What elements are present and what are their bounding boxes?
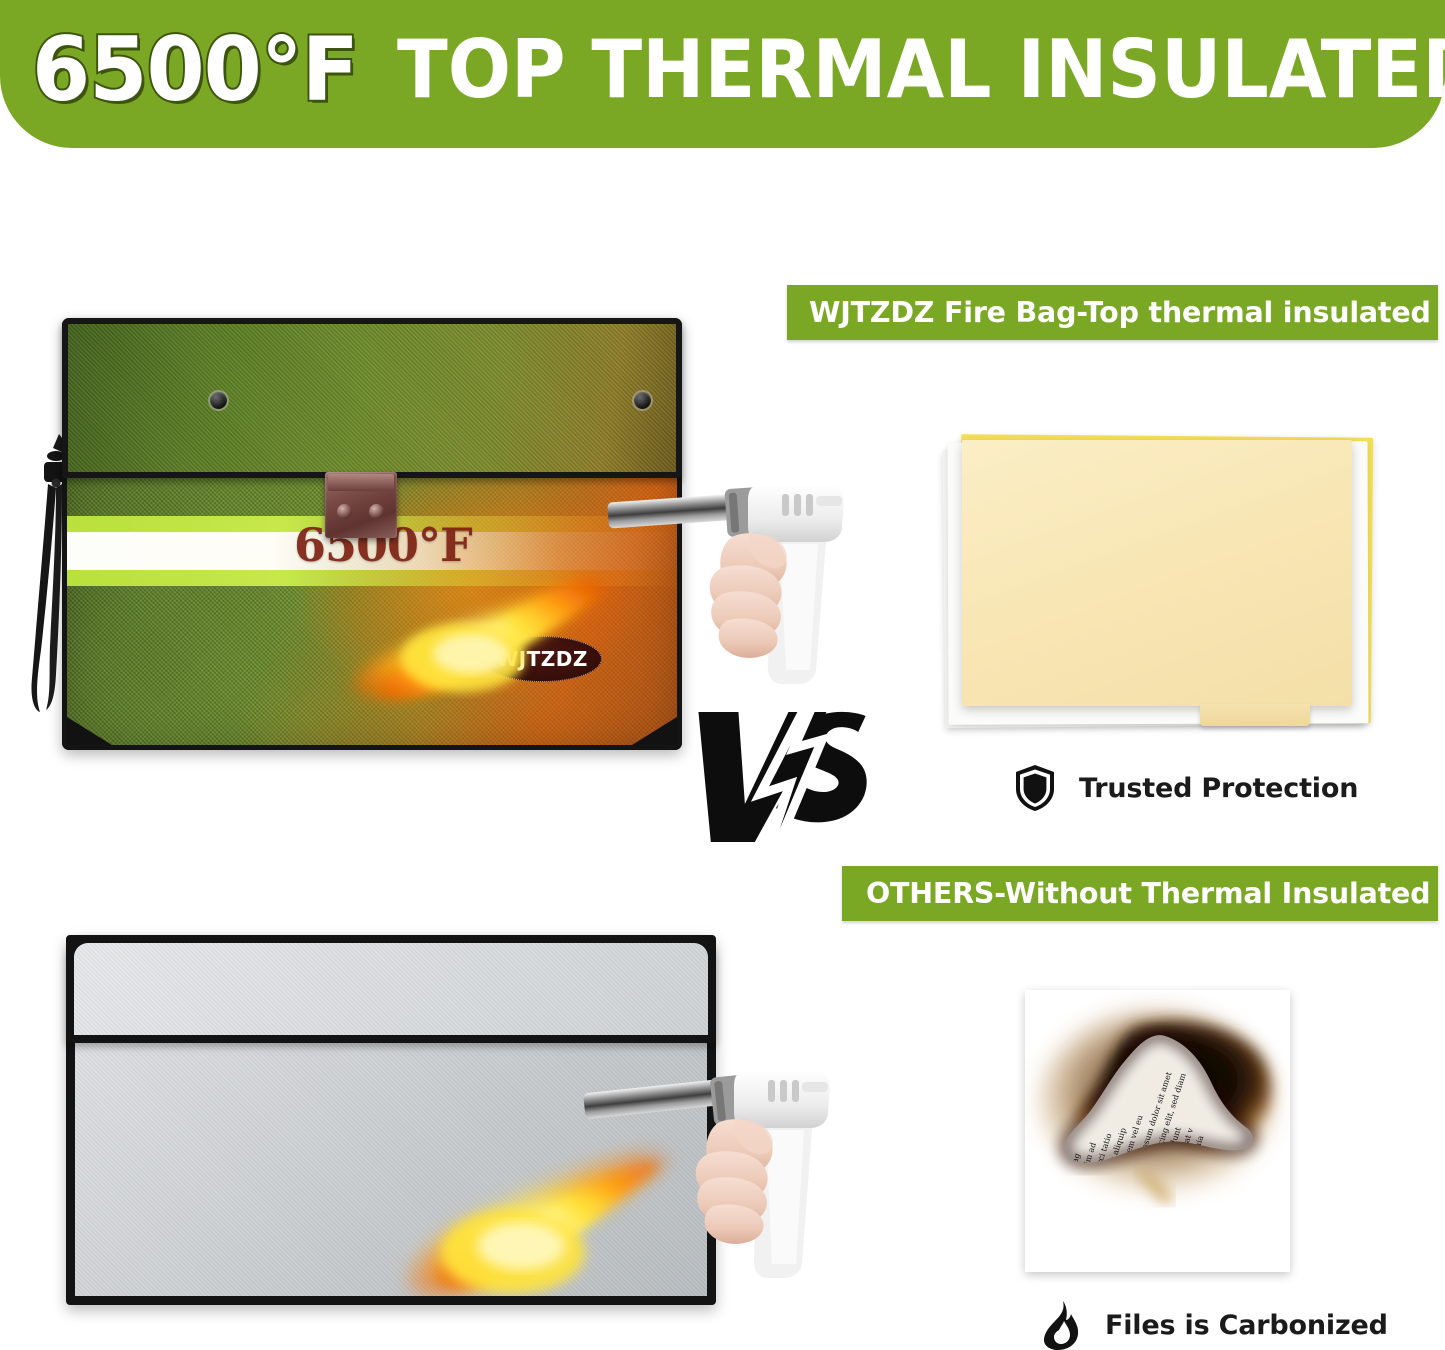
clasp-stud-left — [337, 504, 352, 519]
bag-stripe-lower — [62, 570, 682, 586]
banner-bottom-label: OTHERS-Without Thermal Insulated — [866, 877, 1430, 910]
bag-corner-right — [624, 706, 682, 750]
clasp-top-plate — [328, 474, 394, 491]
burned-document-photo: mag enim ad exerci tatio nisl ut aliquip… — [1025, 990, 1290, 1272]
banner-top-product: WJTZDZ Fire Bag-Top thermal insulated — [787, 285, 1438, 340]
header-banner: 6500°F TOP THERMAL INSULATED — [0, 0, 1445, 148]
blow-torch-icon-lower — [600, 1050, 860, 1280]
files-carbonized-label: Files is Carbonized — [1105, 1310, 1388, 1341]
bag-brand-logo-text: WJTZDZ — [496, 647, 588, 671]
header-temperature: 6500°F — [32, 18, 358, 121]
paper-stack-photo — [938, 420, 1374, 740]
files-carbonized-caption: Files is Carbonized — [1039, 1300, 1388, 1350]
green-bag-flap — [62, 318, 682, 478]
shield-icon — [1013, 763, 1057, 813]
header-headline: TOP THERMAL INSULATED — [397, 23, 1445, 116]
bag-corner-left — [62, 706, 120, 750]
burned-paper-graphic: mag enim ad exerci tatio nisl ut aliquip… — [1025, 990, 1290, 1272]
snap-button-left — [210, 392, 227, 409]
metal-clasp-icon — [325, 472, 397, 538]
banner-top-label: WJTZDZ Fire Bag-Top thermal insulated — [809, 296, 1431, 329]
bag-brand-logo: WJTZDZ — [482, 636, 602, 682]
clasp-stud-right — [369, 504, 384, 519]
banner-bottom-product: OTHERS-Without Thermal Insulated — [842, 866, 1438, 921]
paper-sheet-manila-folder — [962, 440, 1352, 706]
snap-button-right — [634, 392, 651, 409]
trusted-protection-label: Trusted Protection — [1079, 773, 1358, 804]
trusted-protection-caption: Trusted Protection — [1013, 763, 1358, 813]
green-fire-bag-photo: 6500°F WJTZDZ — [18, 296, 708, 766]
silver-bag-flap — [66, 935, 716, 1043]
flame-icon — [1039, 1300, 1083, 1350]
manila-folder-tab — [1200, 704, 1310, 726]
header-title: 6500°F TOP THERMAL INSULATED — [32, 14, 1432, 124]
